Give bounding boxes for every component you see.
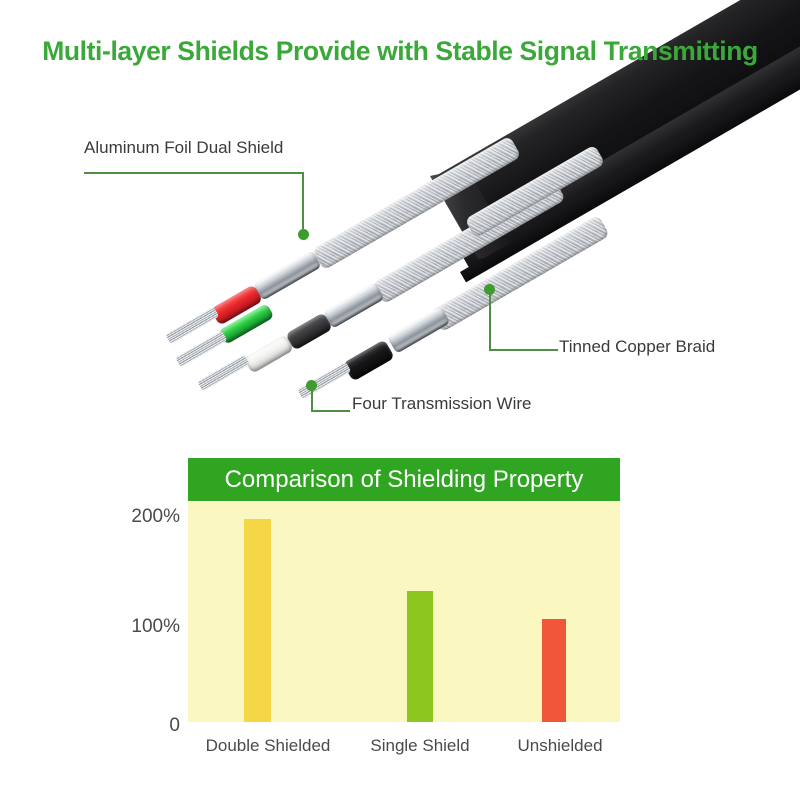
wire-tip-dark-gray	[285, 312, 333, 350]
bar-unshielded	[542, 619, 566, 722]
leader-dot-aluminum	[298, 229, 309, 240]
leader-line-four-wire-h	[311, 410, 350, 412]
x-tick-label-double-shielded: Double Shielded	[178, 736, 358, 756]
y-tick-label-200: 200%	[131, 506, 180, 528]
y-tick-label-100: 100%	[131, 616, 180, 638]
infographic-canvas: Aluminum Foil Dual Shield Tinned Copper …	[0, 0, 800, 800]
shielding-comparison-chart: Comparison of Shielding Property	[188, 458, 620, 722]
headline-title: Multi-layer Shields Provide with Stable …	[0, 36, 800, 67]
wire-strands-3	[197, 355, 249, 392]
x-tick-label-single-shield: Single Shield	[340, 736, 500, 756]
leader-line-four-wire-v	[311, 388, 313, 412]
leader-dot-braid	[484, 284, 495, 295]
leader-line-aluminum-v	[302, 172, 304, 234]
chart-title: Comparison of Shielding Property	[188, 458, 620, 501]
chart-plot-area	[188, 502, 620, 722]
leader-line-braid-h	[489, 349, 558, 351]
bar-double-shielded	[244, 519, 271, 722]
wire-ferrule-1	[253, 250, 321, 300]
wire-tip-black	[343, 339, 395, 381]
wire-strands-4	[297, 362, 351, 400]
wire-ferrule-3	[387, 306, 450, 353]
leader-line-aluminum-h	[84, 172, 303, 174]
wire-ferrule-2	[323, 282, 384, 328]
y-tick-label-0: 0	[169, 715, 180, 737]
leader-dot-four-wire	[306, 380, 317, 391]
bar-single-shield	[407, 591, 433, 722]
wire-tip-white	[244, 334, 295, 374]
chart-y-axis: 200% 100% 0	[30, 458, 180, 748]
x-tick-label-unshielded: Unshielded	[490, 736, 630, 756]
callout-label-tinned-copper-braid: Tinned Copper Braid	[559, 337, 715, 357]
callout-label-four-transmission-wire: Four Transmission Wire	[352, 394, 531, 414]
leader-line-braid-v	[489, 292, 491, 350]
callout-label-aluminum-foil-dual-shield: Aluminum Foil Dual Shield	[84, 138, 283, 158]
